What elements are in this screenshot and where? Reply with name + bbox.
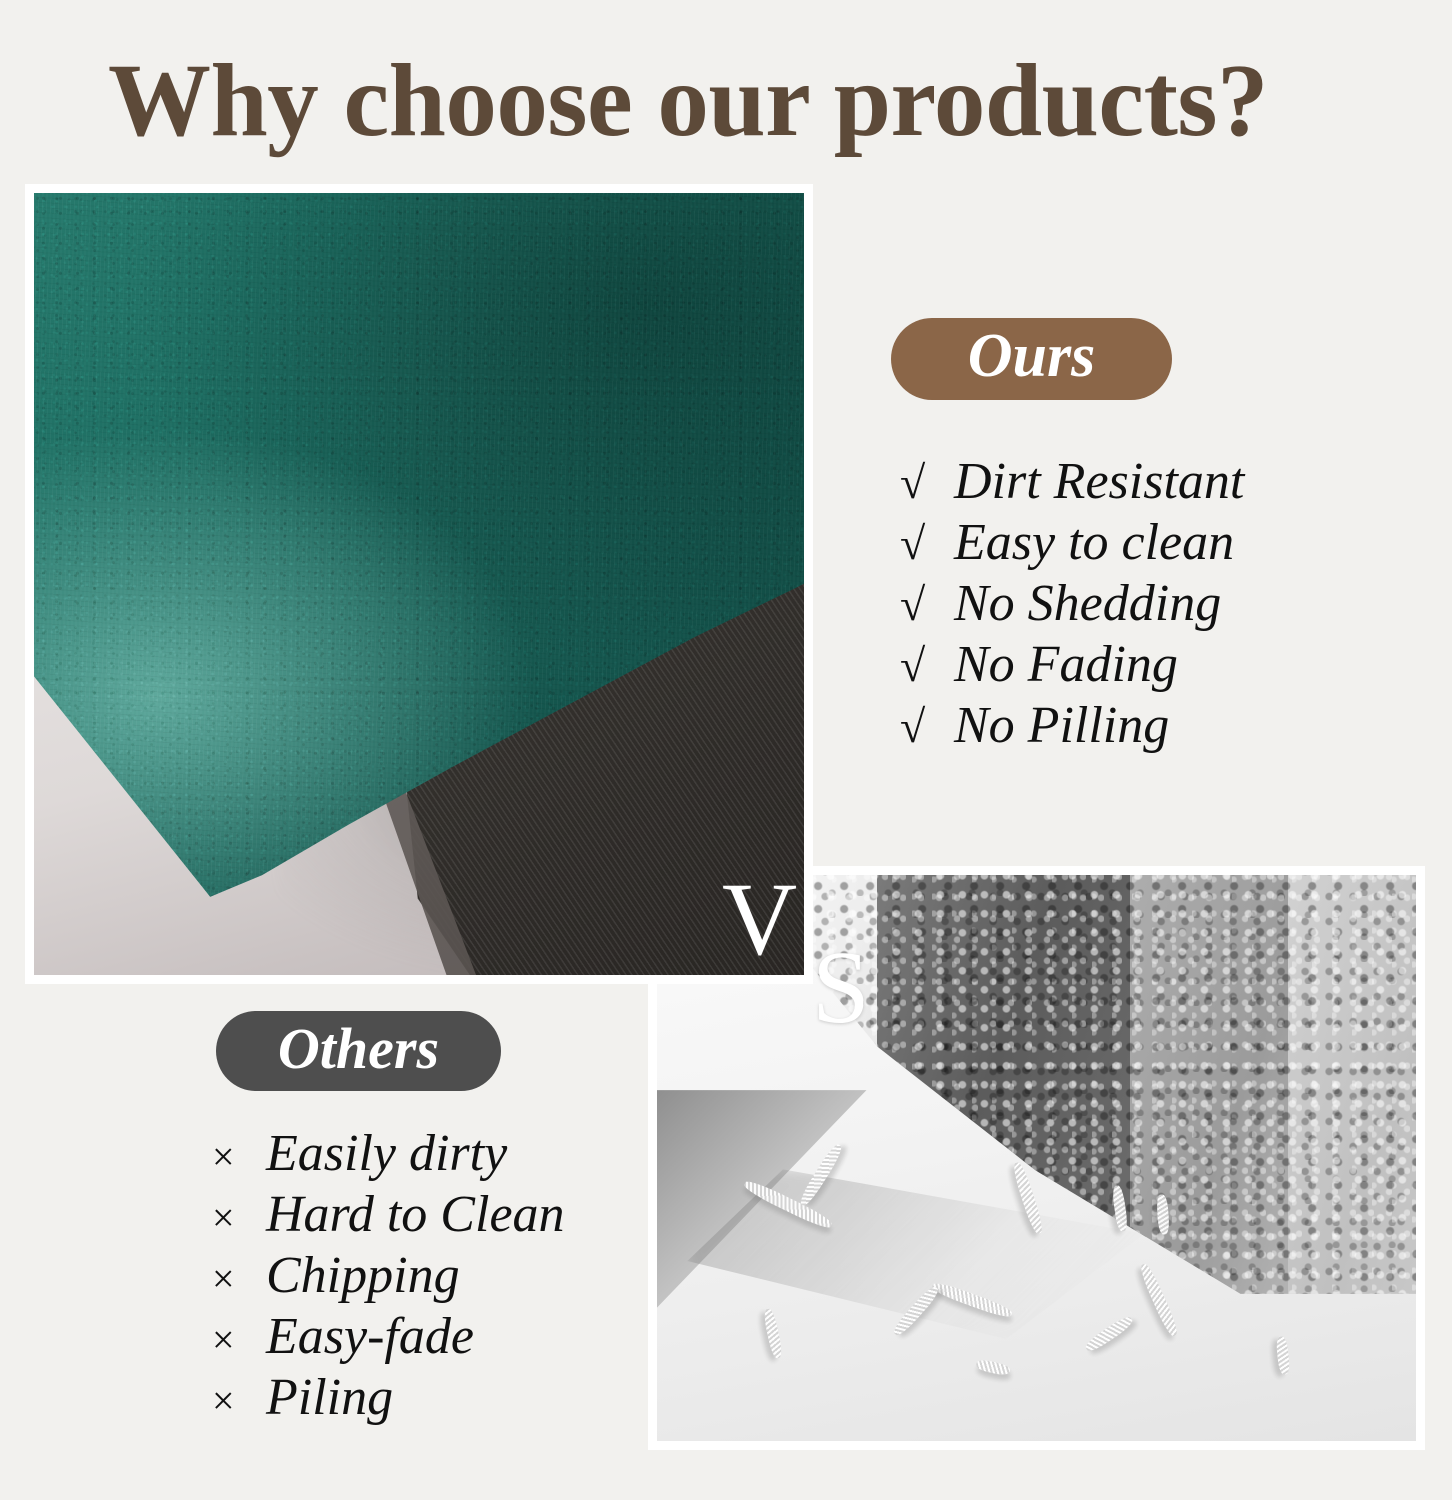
shed-fiber <box>975 1358 1011 1376</box>
list-item: √ No Shedding <box>900 574 1244 635</box>
cross-icon: × <box>212 1194 266 1241</box>
list-item: × Hard to Clean <box>212 1185 565 1246</box>
green-mat-scene <box>34 193 804 975</box>
ours-badge-label: Ours <box>968 321 1096 392</box>
feature-label: Chipping <box>266 1246 460 1305</box>
feature-label: Easy-fade <box>266 1307 474 1366</box>
feature-label: Hard to Clean <box>266 1185 565 1244</box>
feature-label: Piling <box>266 1368 393 1427</box>
infographic-canvas: Why choose our products? <box>0 0 1452 1500</box>
ours-badge: Ours <box>891 318 1172 400</box>
vs-letter-v: V <box>722 868 797 972</box>
list-item: √ Dirt Resistant <box>900 452 1244 513</box>
cross-icon: × <box>212 1255 266 1302</box>
feature-label: Easy to clean <box>954 513 1234 572</box>
shed-fiber <box>1276 1336 1291 1375</box>
list-item: √ No Fading <box>900 635 1244 696</box>
vs-letter-s: S <box>812 936 870 1040</box>
others-feature-list: × Easily dirty × Hard to Clean × Chippin… <box>212 1124 565 1429</box>
shed-fiber <box>763 1308 784 1359</box>
feature-label: No Shedding <box>954 574 1221 633</box>
cross-icon: × <box>212 1316 266 1363</box>
page-title: Why choose our products? <box>108 46 1268 155</box>
shed-fiber <box>1138 1262 1181 1338</box>
check-icon: √ <box>900 578 954 631</box>
list-item: × Chipping <box>212 1246 565 1307</box>
feature-label: No Pilling <box>954 696 1169 755</box>
list-item: × Easy-fade <box>212 1307 565 1368</box>
cross-icon: × <box>212 1377 266 1424</box>
shed-fiber <box>1083 1314 1134 1354</box>
list-item: × Easily dirty <box>212 1124 565 1185</box>
list-item: √ No Pilling <box>900 696 1244 757</box>
feature-label: Easily dirty <box>266 1124 507 1183</box>
check-icon: √ <box>900 639 954 692</box>
list-item: √ Easy to clean <box>900 513 1244 574</box>
feature-label: No Fading <box>954 635 1178 694</box>
others-badge-label: Others <box>278 1015 439 1082</box>
feature-label: Dirt Resistant <box>954 452 1244 511</box>
check-icon: √ <box>900 517 954 570</box>
check-icon: √ <box>900 456 954 509</box>
list-item: × Piling <box>212 1368 565 1429</box>
check-icon: √ <box>900 700 954 753</box>
ours-photo <box>34 193 804 975</box>
ours-photo-frame <box>25 184 813 984</box>
ours-feature-list: √ Dirt Resistant √ Easy to clean √ No Sh… <box>900 452 1244 757</box>
cross-icon: × <box>212 1133 266 1180</box>
others-badge: Others <box>216 1011 501 1091</box>
